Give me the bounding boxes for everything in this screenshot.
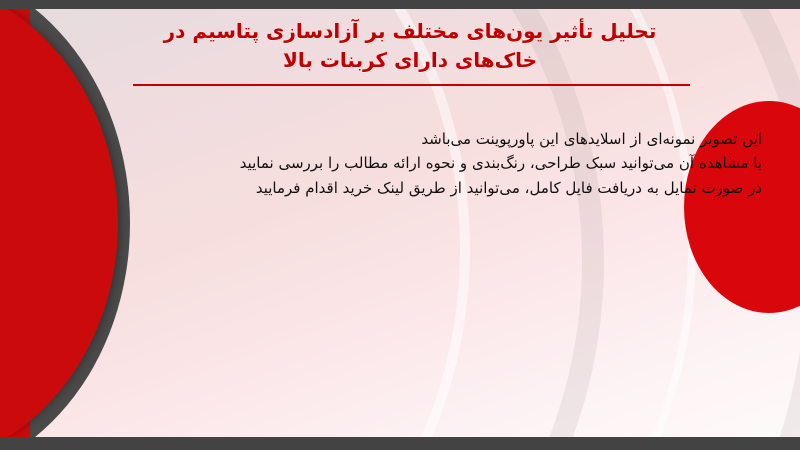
slide-content-area: تحلیل تأثیر یون‌های مختلف بر آزادسازی پت… (0, 9, 800, 437)
body-line-3: در صورت تمایل به دریافت فایل کامل، می‌تو… (72, 176, 762, 200)
top-frame-bar (0, 0, 800, 9)
slide-body-text: این تصویر نمونه‌ای از اسلایدهای این پاور… (72, 127, 762, 200)
slide-title-line-1: تحلیل تأثیر یون‌های مختلف بر آزادسازی پت… (110, 17, 710, 46)
slide-title-line-2: خاک‌های دارای کربنات بالا (110, 46, 710, 75)
bottom-frame-bar (0, 437, 800, 450)
body-line-2: با مشاهده آن می‌توانید سبک طراحی، رنگ‌بن… (72, 151, 762, 175)
title-underline (133, 84, 690, 86)
slide-title: تحلیل تأثیر یون‌های مختلف بر آزادسازی پت… (110, 17, 710, 75)
slide-canvas: تحلیل تأثیر یون‌های مختلف بر آزادسازی پت… (0, 0, 800, 450)
body-line-1: این تصویر نمونه‌ای از اسلایدهای این پاور… (72, 127, 762, 151)
red-ellipse-left-icon (0, 9, 118, 437)
